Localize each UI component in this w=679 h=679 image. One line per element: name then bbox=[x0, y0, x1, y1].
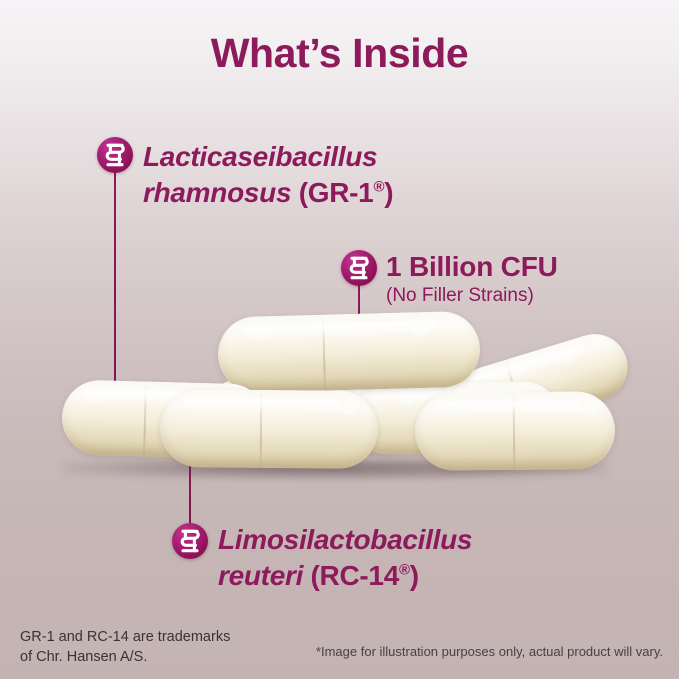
cfu-subtext: (No Filler Strains) bbox=[386, 283, 558, 309]
callout-line-2: reuteri (RC-14®) bbox=[218, 558, 472, 594]
capsule-product-image bbox=[0, 300, 679, 530]
callout-line-2-code: (RC-14 bbox=[311, 560, 399, 591]
callout-text-lacticaseibacillus: Lacticaseibacillus rhamnosus (GR-1®) bbox=[143, 139, 393, 211]
callout-text-limosilactobacillus: Limosilactobacillus reuteri (RC-14®) bbox=[218, 522, 472, 594]
callout-text-cfu: 1 Billion CFU (No Filler Strains) bbox=[386, 250, 558, 309]
gut-icon-lacticaseibacillus bbox=[97, 137, 133, 173]
callout-line-2-italic: reuteri bbox=[218, 560, 311, 591]
callout-line-2-end: ) bbox=[384, 177, 393, 208]
page-title: What’s Inside bbox=[0, 30, 679, 77]
capsule-top-center bbox=[217, 311, 481, 394]
cfu-amount: 1 Billion CFU bbox=[386, 250, 558, 283]
callout-line-1: Lacticaseibacillus bbox=[143, 139, 393, 175]
whats-inside-infographic: What’s Inside bbox=[0, 0, 679, 679]
callout-line-2-end: ) bbox=[410, 560, 419, 591]
callout-line-2-italic: rhamnosus bbox=[143, 177, 299, 208]
capsule-front-right bbox=[415, 391, 616, 471]
callout-line-2-code: (GR-1 bbox=[299, 177, 374, 208]
trademark-notice: GR-1 and RC-14 are trademarks of Chr. Ha… bbox=[20, 627, 230, 667]
image-disclaimer: *Image for illustration purposes only, a… bbox=[316, 643, 663, 661]
trademark-line-2: of Chr. Hansen A/S. bbox=[20, 647, 230, 667]
callout-line-1: Limosilactobacillus bbox=[218, 522, 472, 558]
callout-line-2: rhamnosus (GR-1®) bbox=[143, 175, 393, 211]
registered-mark-icon: ® bbox=[373, 179, 384, 196]
registered-mark-icon: ® bbox=[399, 562, 410, 579]
gut-icon-limosilactobacillus bbox=[172, 523, 208, 559]
trademark-line-1: GR-1 and RC-14 are trademarks bbox=[20, 627, 230, 647]
gut-icon-cfu bbox=[341, 250, 377, 286]
capsule-front-center bbox=[160, 389, 379, 469]
